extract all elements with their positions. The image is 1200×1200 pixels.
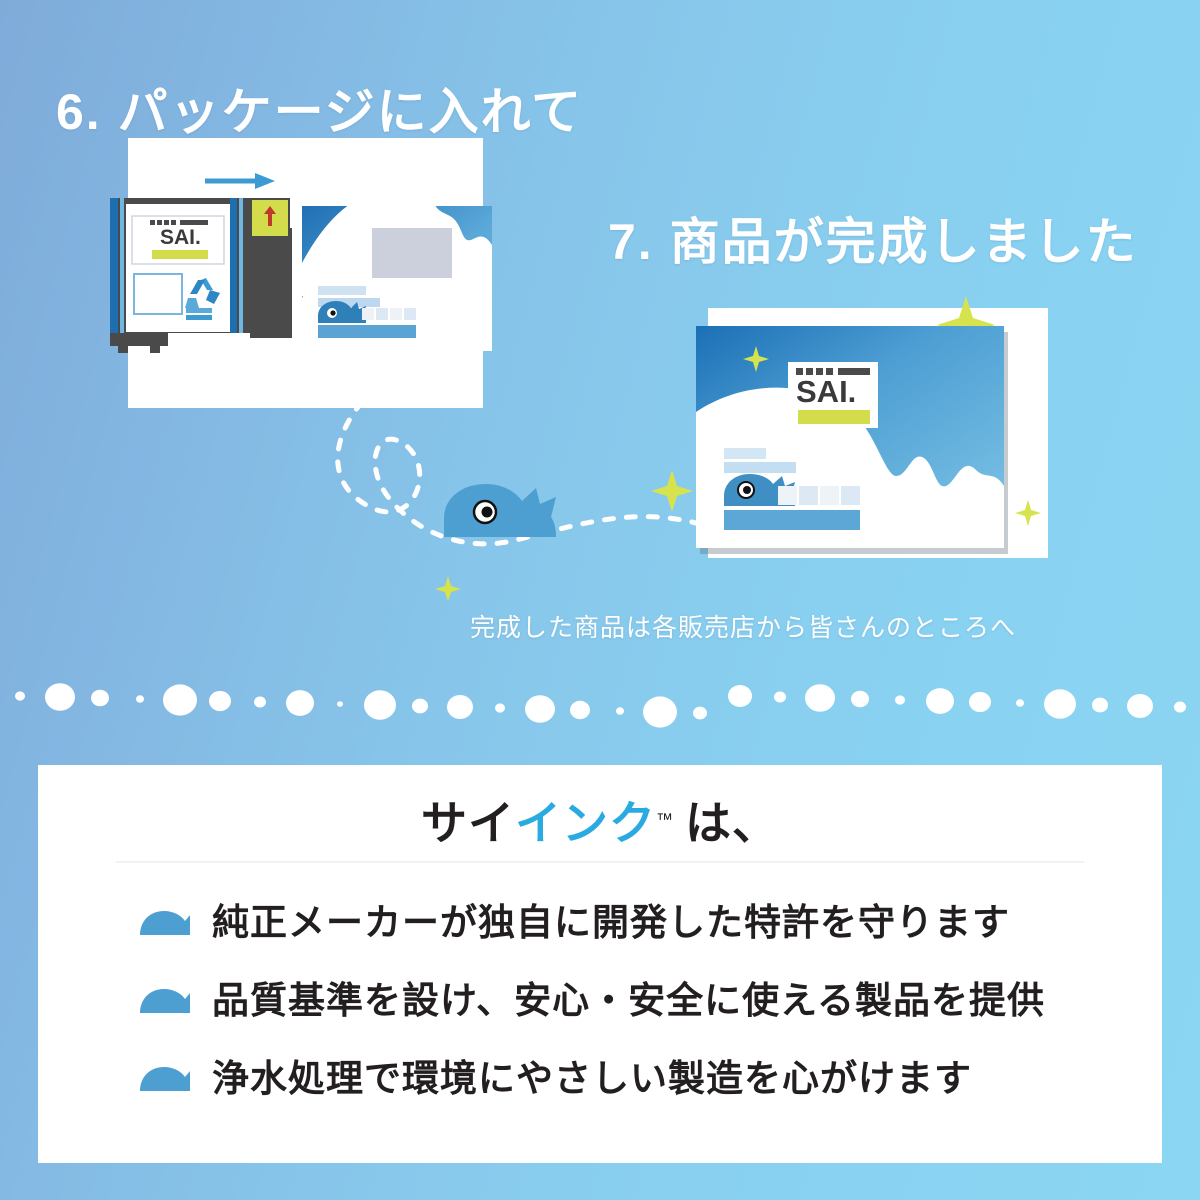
bullet-label: 浄水処理で環境にやさしい製造を心がけます	[212, 1060, 972, 1097]
logo-tail-text: は、	[685, 797, 779, 849]
sparkle-icon	[435, 576, 461, 600]
rhino-icon	[138, 1061, 190, 1095]
list-item: 品質基準を設け、安心・安全に使える製品を提供	[38, 961, 1162, 1039]
bullet-label: 品質基準を設け、安心・安全に使える製品を提供	[212, 982, 1045, 1019]
list-item: 純正メーカーが独自に開発した特許を守ります	[38, 883, 1162, 961]
bullet-label: 純正メーカーが独自に開発した特許を守ります	[212, 904, 1010, 941]
step7-illustration: SAI.	[680, 290, 1080, 590]
trademark-symbol: ™	[656, 810, 673, 829]
dot-divider	[0, 678, 1200, 740]
step6-heading: 6. パッケージに入れて	[56, 72, 583, 144]
rhino-mascot	[444, 484, 556, 537]
panel-divider	[116, 861, 1084, 863]
step7-heading: 7. 商品が完成しました	[608, 202, 1138, 274]
svg-text:SAI.: SAI.	[160, 226, 201, 249]
logo-accent-part: インク	[515, 797, 656, 849]
brand-info-panel: サイインク™は、 純正メーカーが独自に開発した特許を守ります 品質基準を設け、安…	[38, 765, 1162, 1163]
sai-label: SAI.	[788, 362, 878, 428]
step6-illustration: SAI.	[110, 128, 500, 418]
list-item: 浄水処理で環境にやさしい製造を心がけます	[38, 1039, 1162, 1117]
brand-logo: サイインク™は、	[38, 787, 1162, 853]
svg-text:SAI.: SAI.	[796, 374, 856, 409]
rhino-icon	[138, 983, 190, 1017]
rhino-icon	[138, 905, 190, 939]
logo-dark-part: サイ	[421, 797, 515, 849]
bullet-list: 純正メーカーが独自に開発した特許を守ります 品質基準を設け、安心・安全に使える製…	[38, 883, 1162, 1117]
delivery-caption: 完成した商品は各販売店から皆さんのところへ	[470, 608, 1016, 644]
